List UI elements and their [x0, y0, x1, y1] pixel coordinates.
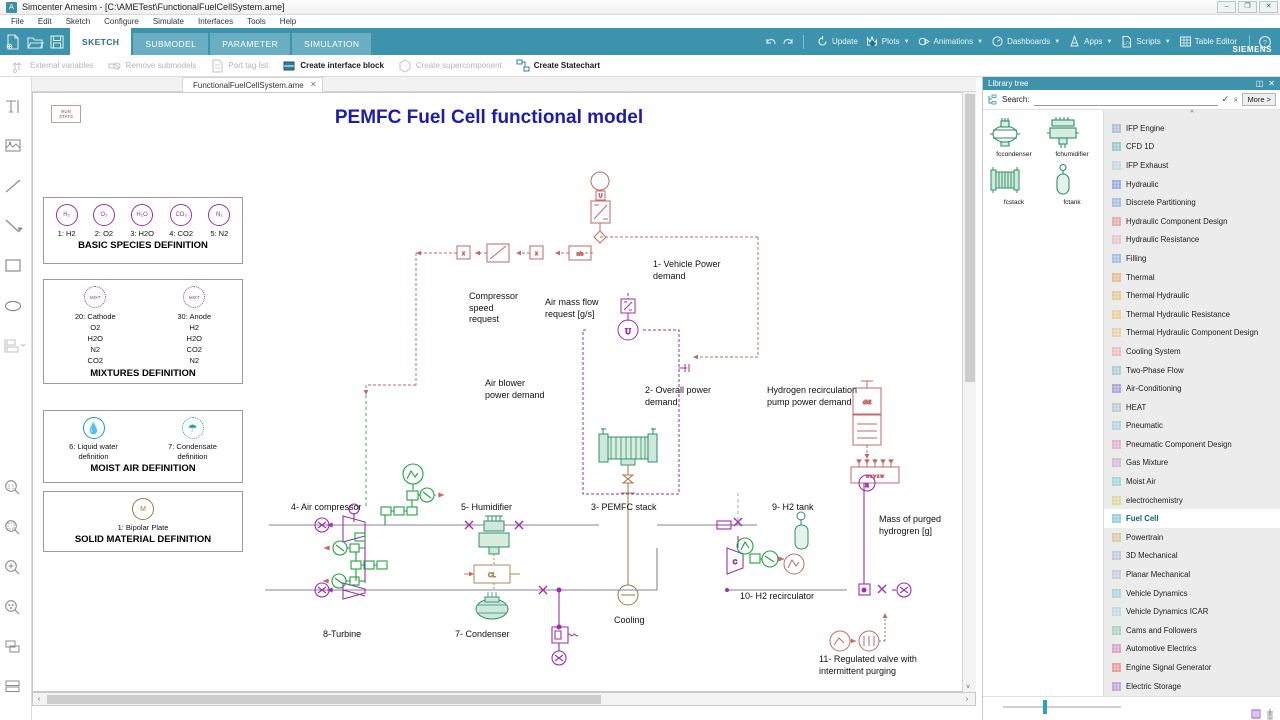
library-item-thermal[interactable]: Thermal — [1104, 268, 1280, 287]
library-footer — [983, 696, 1280, 720]
remove-submodels-icon — [108, 59, 122, 73]
library-item-engine-signal-generator[interactable]: Engine Signal Generator — [1104, 658, 1280, 677]
library-category-icon — [1112, 477, 1121, 486]
external-variables-button: External variables — [6, 55, 100, 77]
library-category-icon — [1112, 663, 1121, 672]
library-category-icon — [1112, 347, 1121, 356]
library-component[interactable]: fctank — [1043, 164, 1101, 206]
ribbon-action-label: Animations — [934, 37, 974, 46]
library-item-label: electrochemistry — [1126, 496, 1183, 505]
library-item-gas-mixture[interactable]: Gas Mixture — [1104, 454, 1280, 473]
library-component-label: fctank — [1043, 199, 1101, 206]
library-category-icon — [1112, 458, 1121, 467]
library-category-icon — [1112, 161, 1121, 170]
plots-icon — [866, 35, 879, 48]
window-controls: – ❐ ✕ — [1217, 1, 1278, 13]
svg-text:1:1: 1:1 — [8, 485, 15, 491]
library-category-icon — [1112, 533, 1121, 542]
library-item-label: Air-Conditioning — [1126, 384, 1181, 393]
library-item-hydraulic-component-design[interactable]: Hydraulic Component Design — [1104, 212, 1280, 231]
library-category-icon — [1112, 180, 1121, 189]
library-item-hydraulic-resistance[interactable]: Hydraulic Resistance — [1104, 231, 1280, 250]
library-component[interactable]: fcstack — [985, 164, 1043, 206]
document-tab-label: FunctionalFuelCellSystem.ame — [193, 81, 304, 90]
ribbon-apps-button[interactable]: Apps▼ — [1064, 28, 1116, 55]
library-category-icon — [1112, 310, 1121, 319]
sketch-canvas[interactable]: PEMFC Fuel Cell functional model RUN STA… — [32, 92, 976, 692]
svg-text:U: U — [625, 327, 631, 336]
diagram-label-regulated-valve: 11- Regulated valve withintermittent pur… — [819, 654, 917, 677]
fctank-icon — [1043, 164, 1083, 198]
interface-block-icon — [282, 59, 296, 73]
library-zoom-slider-track[interactable] — [1003, 706, 1121, 708]
library-item-electrochemistry[interactable]: electrochemistry — [1104, 491, 1280, 510]
create-supercomponent-button: Create supercomponent — [392, 55, 508, 77]
minimize-button[interactable]: – — [1217, 1, 1236, 13]
close-icon[interactable]: ✕ — [310, 80, 317, 89]
library-item-thermal-hydraulic-resistance[interactable]: Thermal Hydraulic Resistance — [1104, 305, 1280, 324]
ribbon-action-label: Update — [832, 37, 858, 46]
diagram-label-air-blower-power-demand: Air blowerpower demand — [485, 378, 545, 401]
diagram-label-cooling: Cooling — [614, 615, 645, 627]
library-category-icon — [1112, 142, 1121, 151]
ribbon-action-label: Scripts — [1136, 37, 1160, 46]
chevron-down-icon[interactable]: ▼ — [1106, 39, 1112, 45]
tab-simulation[interactable]: SIMULATION — [292, 33, 371, 55]
library-item-vehicle-dynamics-icar[interactable]: Vehicle Dynamics ICAR — [1104, 602, 1280, 621]
svg-text:</>: </> — [1122, 41, 1131, 47]
remove-submodels-button: Remove submodels — [102, 55, 203, 77]
library-category-icon — [1112, 291, 1121, 300]
ribbon-animations-button[interactable]: Animations▼ — [914, 28, 988, 55]
library-item-label: Pneumatic — [1126, 421, 1163, 430]
ribbon: SKETCHSUBMODELPARAMETERSIMULATION Update… — [0, 28, 1280, 55]
line-tool-icon[interactable] — [0, 175, 31, 197]
svg-text:n/s: n/s — [577, 252, 584, 258]
ribbon-action-label: Dashboards — [1007, 37, 1050, 46]
library-item-label: IFP Exhaust — [1126, 161, 1168, 170]
library-item-3d-mechanical[interactable]: 3D Mechanical — [1104, 547, 1280, 566]
ribbon-tabs: SKETCHSUBMODELPARAMETERSIMULATION — [70, 28, 373, 55]
library-item-label: Automotive Electrics — [1126, 644, 1197, 653]
library-item-pneumatic-component-design[interactable]: Pneumatic Component Design — [1104, 435, 1280, 454]
library-item-moist-air[interactable]: Moist Air — [1104, 472, 1280, 491]
save-icon[interactable] — [48, 33, 66, 51]
rectangle-tool-icon[interactable] — [0, 255, 31, 277]
supercomponent-icon — [398, 59, 412, 73]
library-item-label: Cams and Followers — [1126, 626, 1197, 635]
library-item-ifp-engine[interactable]: IFP Engine — [1104, 119, 1280, 138]
tab-submodel[interactable]: SUBMODEL — [133, 33, 208, 55]
library-item-label: Discrete Partitioning — [1126, 198, 1196, 207]
library-item-label: 3D Mechanical — [1126, 551, 1178, 560]
title-bar: A Simcenter Amesim - [C:\AMETest\Functio… — [0, 0, 1280, 15]
library-component-icons: fccondenser — [983, 110, 1103, 696]
tree-icon — [987, 94, 998, 105]
ellipse-tool-icon[interactable] — [0, 295, 31, 317]
menu-item-file[interactable]: File — [4, 17, 31, 26]
diagram-label-overall-power-demand: 2- Overall powerdemand — [645, 385, 711, 408]
menu-item-edit[interactable]: Edit — [31, 17, 59, 26]
diagram-label-hydrogen-recirculation-pump: Hydrogen recirculationpump power demand — [767, 385, 857, 408]
ribbon-dashboards-button[interactable]: Dashboards▼ — [987, 28, 1064, 55]
library-item-air-conditioning[interactable]: Air-Conditioning — [1104, 379, 1280, 398]
create-statechart-button[interactable]: Create Statechart — [510, 55, 606, 77]
library-view-icon[interactable] — [1251, 708, 1261, 720]
library-item-thermal-hydraulic-component-design[interactable]: Thermal Hydraulic Component Design — [1104, 324, 1280, 343]
port-tag-list-icon — [210, 59, 224, 73]
library-category-icon — [1112, 607, 1121, 616]
library-item-label: Thermal Hydraulic Resistance — [1126, 310, 1230, 319]
drawing-tools-sidebar: 1:1 — [0, 77, 32, 720]
ribbon-plots-button[interactable]: Plots▼ — [862, 28, 914, 55]
undo-icon[interactable] — [764, 35, 778, 49]
library-filter-icon[interactable] — [1265, 708, 1275, 720]
diagram-label-condenser: 7- Condenser — [455, 629, 510, 641]
library-item-fuel-cell[interactable]: Fuel Cell — [1104, 509, 1280, 528]
redo-icon[interactable] — [781, 35, 795, 49]
restore-button[interactable]: ❐ — [1238, 1, 1257, 13]
tile-windows-icon[interactable] — [0, 676, 32, 698]
library-item-label: Gas Mixture — [1126, 458, 1168, 467]
diagram-area: PEMFC Fuel Cell functional model RUN STA… — [33, 93, 976, 692]
library-category-icon — [1112, 440, 1121, 449]
library-category-icon — [1112, 273, 1121, 282]
table-editor-icon — [1179, 35, 1192, 48]
library-category-icon — [1112, 496, 1121, 505]
chevron-down-icon[interactable]: ▼ — [977, 39, 983, 45]
menu-item-help[interactable]: Help — [273, 17, 303, 26]
search-label: Search: — [1002, 95, 1030, 104]
library-item-two-phase-flow[interactable]: Two-Phase Flow — [1104, 361, 1280, 380]
library-item-thermal-hydraulic[interactable]: Thermal Hydraulic — [1104, 286, 1280, 305]
library-body: fccondenser — [983, 110, 1280, 696]
svg-text:n: n — [865, 481, 869, 489]
svg-text:C: C — [733, 560, 738, 566]
library-item-label: Thermal — [1126, 273, 1155, 282]
new-file-icon[interactable] — [4, 33, 22, 51]
document-tab-bar: FunctionalFuelCellSystem.ame ✕ — [32, 77, 976, 92]
diagram-label-turbine: 8-Turbine — [323, 629, 361, 641]
arrange-windows-icon[interactable] — [0, 636, 32, 658]
library-category-icon — [1112, 514, 1121, 523]
library-category-icon — [1112, 644, 1121, 653]
diagram-label-humidifier: 5- Humidifier — [461, 502, 512, 514]
library-item-label: Planar Mechanical — [1126, 570, 1190, 579]
library-item-automotive-electrics[interactable]: Automotive Electrics — [1104, 640, 1280, 659]
library-item-label: Hydraulic — [1126, 180, 1159, 189]
vscroll-down-arrow[interactable]: ˅ — [966, 684, 970, 691]
check-icon[interactable]: ✓ — [1222, 94, 1230, 105]
fcstack-icon — [985, 164, 1025, 198]
tab-sketch[interactable]: SKETCH — [70, 28, 131, 55]
library-item-pneumatic[interactable]: Pneumatic — [1104, 417, 1280, 436]
svg-text:x: x — [462, 251, 465, 257]
tab-parameter[interactable]: PARAMETER — [210, 33, 290, 55]
library-category-icon — [1112, 551, 1121, 560]
canvas-vscrollbar[interactable]: ˄ ˅ — [962, 92, 976, 692]
window-title: Simcenter Amesim - [C:\AMETest\Functiona… — [22, 2, 285, 12]
library-category-icon — [1112, 217, 1121, 226]
diagram-label-air-compressor: 4- Air compressor — [291, 502, 362, 514]
ribbon-table-editor-button[interactable]: Table Editor — [1175, 28, 1241, 55]
dock-icon[interactable]: ◫ — [1256, 79, 1264, 88]
document-tab[interactable]: FunctionalFuelCellSystem.ame ✕ — [182, 77, 323, 92]
ribbon-action-label: Apps — [1084, 37, 1102, 46]
animations-icon — [918, 35, 931, 48]
library-component-label: fccondenser — [985, 151, 1043, 158]
chevron-down-icon[interactable]: ▼ — [1054, 39, 1060, 45]
hscroll-left-arrow[interactable]: ‹ — [33, 696, 45, 703]
library-category-icon — [1112, 589, 1121, 598]
svg-text:n x y z w: n x y z w — [866, 474, 884, 479]
clear-icon[interactable]: ⨰ — [1233, 94, 1238, 105]
library-item-filling[interactable]: Filling — [1104, 249, 1280, 268]
dashboards-icon — [991, 35, 1004, 48]
ribbon-update-button[interactable]: Update — [812, 28, 862, 55]
toolbar-item-label: Port tag list — [228, 61, 268, 70]
library-item-label: Pneumatic Component Design — [1126, 440, 1232, 449]
chevron-down-icon[interactable]: ▼ — [904, 39, 910, 45]
library-category-icon — [1112, 198, 1121, 207]
library-component[interactable]: fchumidifier — [1043, 116, 1101, 158]
library-category-icon — [1112, 124, 1121, 133]
canvas-hscrollbar[interactable]: ‹ › — [32, 692, 976, 706]
library-item-cams-and-followers[interactable]: Cams and Followers — [1104, 621, 1280, 640]
statechart-icon — [516, 59, 530, 73]
library-category-icon — [1112, 682, 1121, 691]
toolbar-item-label: Remove submodels — [126, 61, 197, 70]
library-item-label: Engine Signal Generator — [1126, 663, 1211, 672]
quick-access-toolbar — [0, 28, 66, 55]
zoom-fit-icon[interactable] — [0, 516, 32, 538]
toolbar-item-label: External variables — [30, 61, 94, 70]
library-item-label: CFD 1D — [1126, 142, 1154, 151]
diagram-label-pemfc-stack: 3- PEMFC stack — [591, 502, 657, 514]
library-item-powertrain[interactable]: Powertrain — [1104, 528, 1280, 547]
library-search-bar: Search: ✓ ⨰ More > — [983, 90, 1280, 110]
library-item-label: Vehicle Dynamics ICAR — [1126, 607, 1208, 616]
menu-item-simulate[interactable]: Simulate — [146, 17, 191, 26]
ribbon-actions: UpdatePlots▼Animations▼Dashboards▼Apps▼<… — [764, 28, 1280, 55]
library-item-label: Fuel Cell — [1126, 514, 1159, 523]
library-category-icon — [1112, 235, 1121, 244]
library-zoom-slider-thumb[interactable] — [1043, 700, 1047, 714]
svg-text:U: U — [599, 194, 603, 200]
arrow-tool-icon[interactable] — [0, 215, 31, 237]
library-component-label: fcstack — [985, 199, 1043, 206]
library-item-label: Hydraulic Component Design — [1126, 217, 1227, 226]
library-component[interactable]: fccondenser — [985, 116, 1043, 158]
fchumidifier-icon — [1043, 116, 1083, 150]
library-category-icon — [1112, 570, 1121, 579]
library-item-cooling-system[interactable]: Cooling System — [1104, 342, 1280, 361]
image-tool-icon[interactable] — [0, 135, 31, 157]
diagram-label-compressor-speed-request: Compressorspeedrequest — [469, 291, 518, 326]
library-item-label: Cooling System — [1126, 347, 1181, 356]
library-item-label: Vehicle Dynamics — [1126, 589, 1188, 598]
text-tool-icon[interactable] — [0, 95, 31, 117]
library-category-icon — [1112, 626, 1121, 635]
library-item-label: Two-Phase Flow — [1126, 366, 1184, 375]
library-item-label: Moist Air — [1126, 477, 1156, 486]
library-item-vehicle-dynamics[interactable]: Vehicle Dynamics — [1104, 584, 1280, 603]
library-item-label: Hydraulic Resistance — [1126, 235, 1199, 244]
library-item-label: Electric Storage — [1126, 682, 1181, 691]
library-category-icon — [1112, 328, 1121, 337]
menu-item-interfaces[interactable]: Interfaces — [191, 17, 240, 26]
library-panel-title: Library tree — [988, 79, 1028, 88]
more-button[interactable]: More > — [1242, 93, 1276, 106]
chevron-up-icon[interactable]: ^ — [1104, 110, 1280, 119]
diagram-label-air-mass-flow-request: Air mass flowrequest [g/s] — [545, 297, 599, 320]
svg-text:d/dt: d/dt — [863, 400, 872, 406]
menu-item-sketch[interactable]: Sketch — [59, 17, 97, 26]
library-item-label: HEAT — [1126, 403, 1146, 412]
library-category-icon — [1112, 421, 1121, 430]
search-input[interactable] — [1034, 94, 1218, 106]
update-icon — [816, 35, 829, 48]
scripts-icon: </> — [1120, 35, 1133, 48]
close-button[interactable]: ✕ — [1259, 1, 1278, 13]
ribbon-action-label: Table Editor — [1195, 37, 1237, 46]
library-item-heat[interactable]: HEAT — [1104, 398, 1280, 417]
library-category-list[interactable]: ^ IFP EngineCFD 1DIFP ExhaustHydraulicDi… — [1103, 110, 1280, 696]
toolbar-item-label: Create supercomponent — [416, 61, 502, 70]
port-tag-list-button: Port tag list — [204, 55, 274, 77]
toolbar-item-label: Create Statechart — [534, 61, 600, 70]
ribbon-action-label: Plots — [882, 37, 900, 46]
menu-item-configure[interactable]: Configure — [97, 17, 146, 26]
diagram-label-vehicle-power-demand: 1- Vehicle Powerdemand — [653, 259, 721, 282]
create-interface-block-button[interactable]: Create interface block — [276, 55, 390, 77]
sketch-toolbar: External variablesRemove submodelsPort t… — [0, 55, 1280, 77]
diagram-label-h2-recirculator: 10- H2 recirculator — [740, 591, 814, 603]
library-category-icon — [1112, 403, 1121, 412]
library-category-icon — [1112, 254, 1121, 263]
library-category-icon — [1112, 384, 1121, 393]
apps-icon — [1068, 35, 1081, 48]
library-item-label: Filling — [1126, 254, 1146, 263]
library-item-label: Thermal Hydraulic — [1126, 291, 1189, 300]
diagram-label-h2-tank: 9- H2 tank — [772, 502, 814, 514]
open-folder-icon[interactable] — [26, 33, 44, 51]
library-item-discrete-partitioning[interactable]: Discrete Partitioning — [1104, 193, 1280, 212]
external-variables-icon — [12, 59, 26, 73]
close-icon[interactable]: ✕ — [1268, 79, 1275, 88]
library-item-planar-mechanical[interactable]: Planar Mechanical — [1104, 565, 1280, 584]
library-tree-panel: Library tree ◫ ✕ Search: ✓ ⨰ More > — [982, 77, 1280, 720]
hscroll-thumb[interactable] — [47, 695, 601, 704]
library-panel-header: Library tree ◫ ✕ — [983, 77, 1280, 90]
library-category-icon — [1112, 366, 1121, 375]
ribbon-separator — [803, 35, 804, 49]
zoom-in-icon[interactable] — [0, 556, 32, 578]
svg-text:CL: CL — [488, 573, 496, 579]
vscroll-thumb[interactable] — [965, 94, 975, 382]
zoom-region-icon[interactable] — [0, 596, 32, 618]
library-item-electric-storage[interactable]: Electric Storage — [1104, 677, 1280, 696]
align-tool-icon[interactable] — [0, 335, 31, 357]
library-item-label: Thermal Hydraulic Component Design — [1126, 328, 1258, 337]
simcenter-icon: A — [6, 2, 17, 13]
library-component-label: fchumidifier — [1043, 151, 1101, 158]
library-item-hydraulic[interactable]: Hydraulic — [1104, 175, 1280, 194]
zoom-1-1-icon[interactable]: 1:1 — [0, 476, 32, 498]
library-item-label: Powertrain — [1126, 533, 1163, 542]
menu-bar: FileEditSketchConfigureSimulateInterface… — [0, 15, 1280, 28]
chevron-down-icon[interactable]: ▼ — [1165, 39, 1171, 45]
fccondenser-icon — [985, 116, 1025, 150]
diagram-label-mass-purged-hydrogen: Mass of purgedhydrogren [g] — [879, 514, 941, 537]
siemens-brand: SIEMENS — [1232, 45, 1272, 54]
toolbar-item-label: Create interface block — [300, 61, 384, 70]
library-item-cfd-1d[interactable]: CFD 1D — [1104, 138, 1280, 157]
library-item-label: IFP Engine — [1126, 124, 1164, 133]
ribbon-scripts-button[interactable]: </>Scripts▼ — [1116, 28, 1174, 55]
menu-item-tools[interactable]: Tools — [240, 17, 273, 26]
library-item-ifp-exhaust[interactable]: IFP Exhaust — [1104, 156, 1280, 175]
svg-text:x: x — [535, 251, 538, 257]
hscroll-right-arrow[interactable]: › — [961, 696, 973, 703]
